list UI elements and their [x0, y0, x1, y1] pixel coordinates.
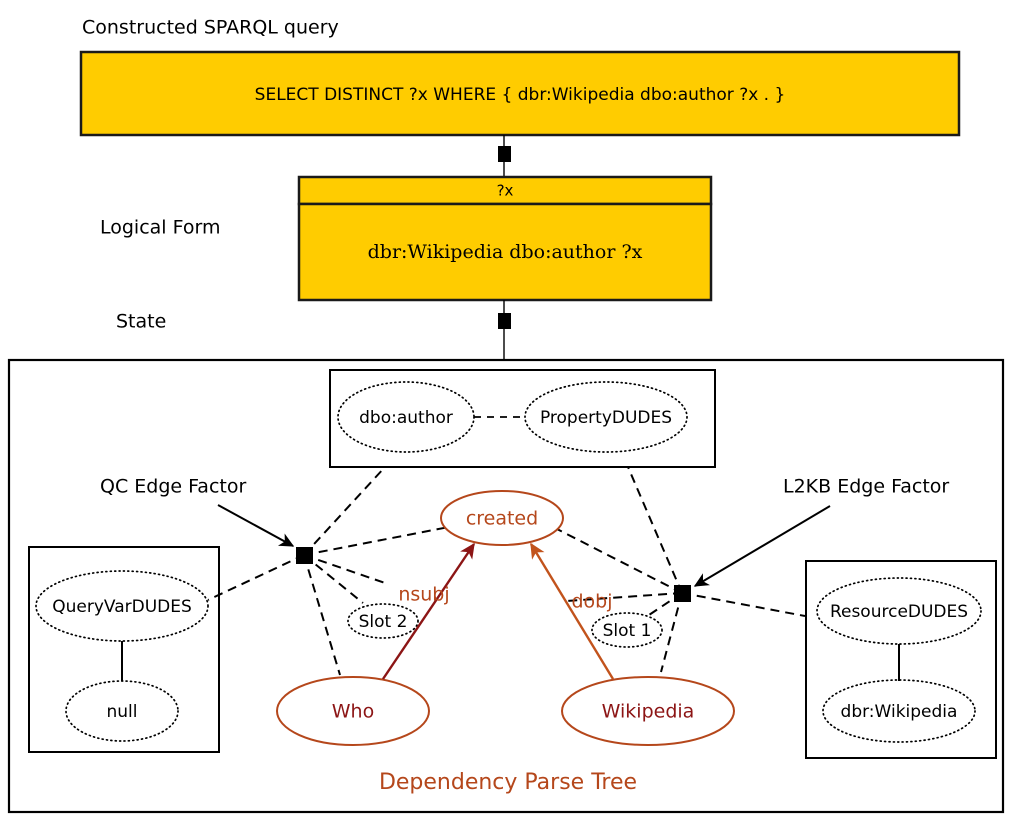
query-var-dudes-label: QueryVarDUDES: [52, 597, 192, 617]
slot-1-label: Slot 1: [603, 621, 652, 641]
dbo-author-label: dbo:author: [359, 408, 453, 428]
wikipedia-label: Wikipedia: [602, 701, 695, 723]
nsubj-label: nsubj: [398, 584, 449, 606]
sparql-query-text: SELECT DISTINCT ?x WHERE { dbr:Wikipedia…: [255, 85, 786, 105]
logical-form-variable-text: ?x: [497, 182, 514, 200]
state-caption: State: [116, 311, 166, 333]
logical-form-caption: Logical Form: [100, 217, 221, 239]
qc-edge-factor-label: QC Edge Factor: [100, 476, 246, 498]
created-label: created: [466, 508, 538, 530]
dobj-label: dobj: [571, 591, 612, 613]
dbr-wikipedia-label: dbr:Wikipedia: [841, 702, 958, 722]
qc-edge-factor-node: [296, 547, 313, 564]
sparql-caption: Constructed SPARQL query: [82, 17, 339, 39]
l2kb-edge-factor-node: [674, 585, 691, 602]
who-label: Who: [332, 701, 374, 723]
logical-form-body-text: dbr:Wikipedia dbo:author ?x: [368, 241, 643, 263]
variable-node-upper: [498, 146, 511, 162]
dependency-parse-tree-title: Dependency Parse Tree: [379, 770, 637, 795]
slot-2-label: Slot 2: [359, 612, 408, 632]
null-label: null: [107, 702, 138, 722]
variable-node-lower: [498, 313, 511, 329]
l2kb-edge-factor-label: L2KB Edge Factor: [783, 476, 949, 498]
resource-dudes-label: ResourceDUDES: [830, 602, 968, 622]
property-dudes-label: PropertyDUDES: [540, 408, 672, 428]
figure-root: Constructed SPARQL query SELECT DISTINCT…: [0, 0, 1010, 819]
factor-graph-diagram: Constructed SPARQL query SELECT DISTINCT…: [0, 0, 1010, 819]
